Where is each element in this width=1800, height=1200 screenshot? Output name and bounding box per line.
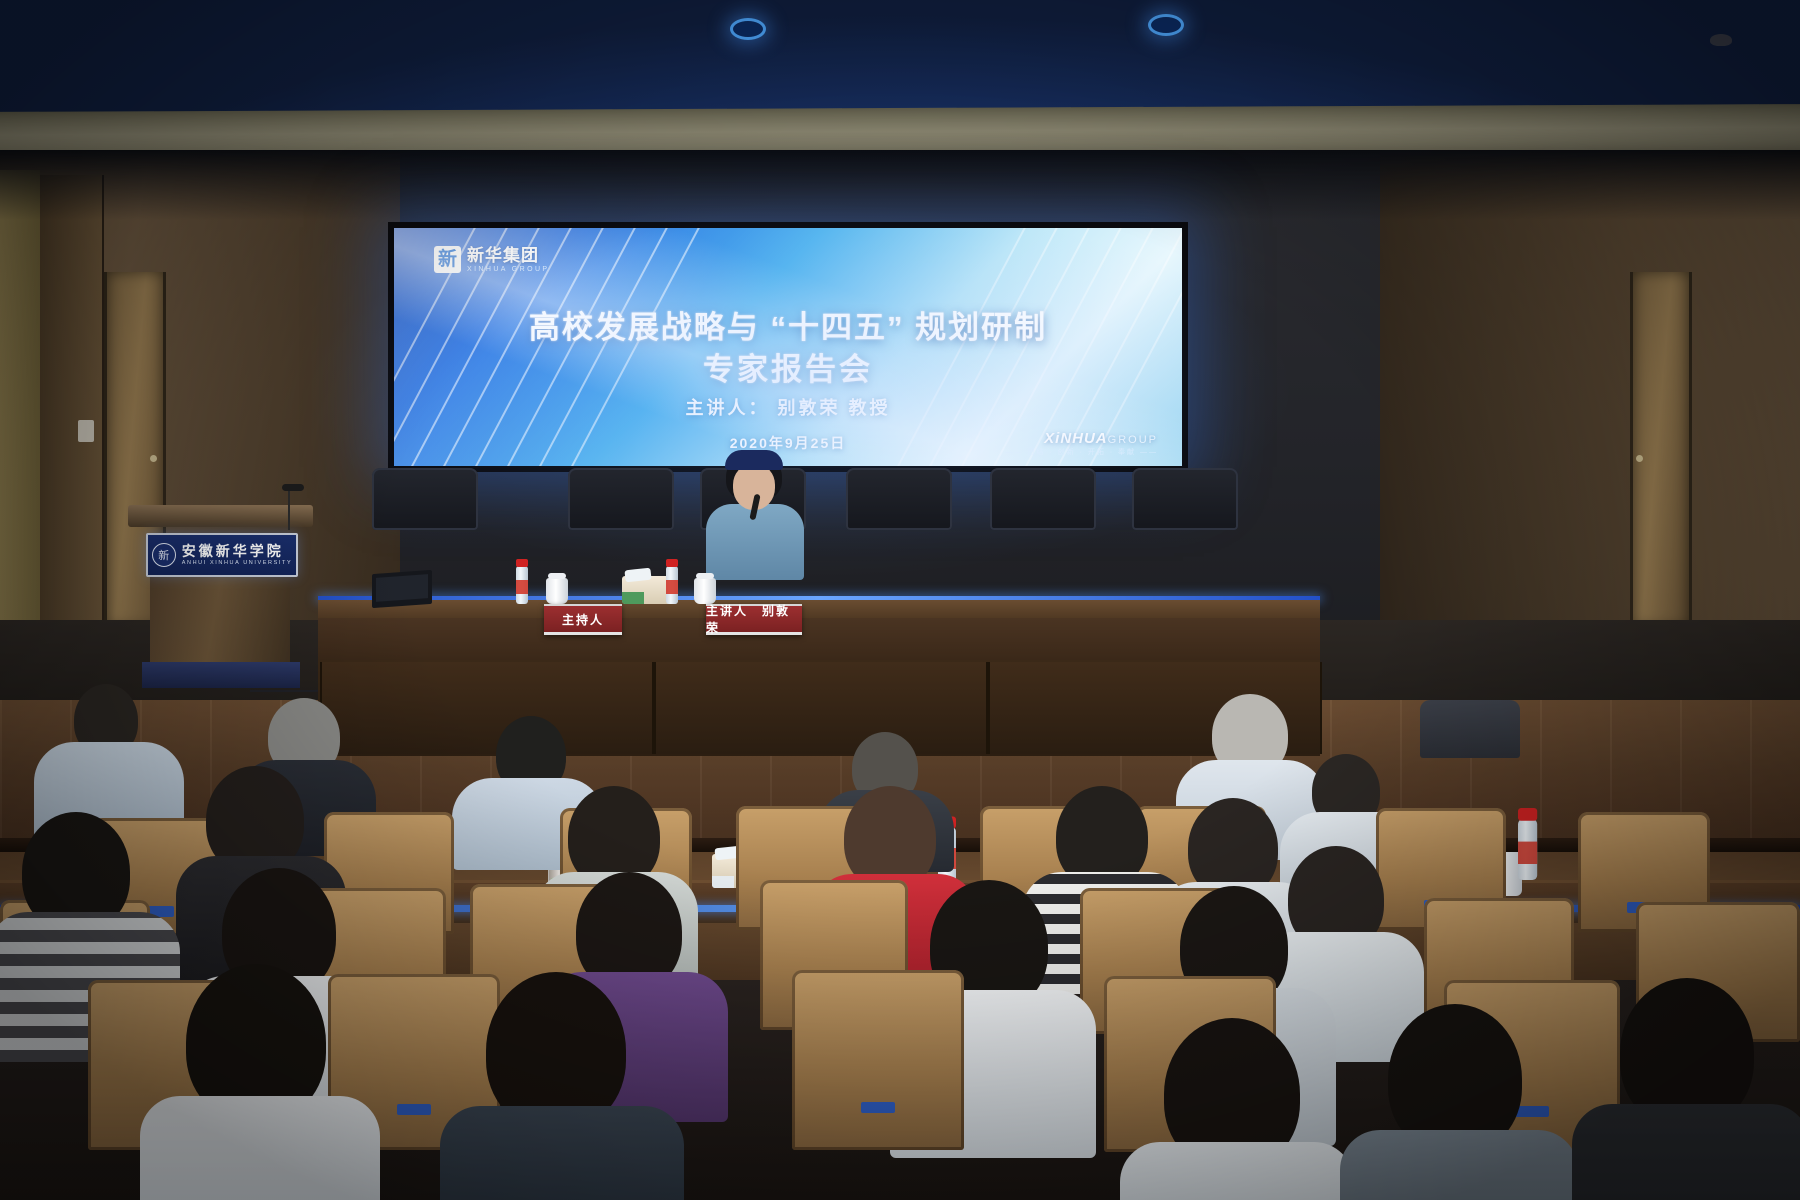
slide-light-sheen [394, 228, 835, 466]
head-table-chair[interactable] [1132, 468, 1238, 530]
slide-footer-brand-main: XiNHUA [1044, 430, 1108, 447]
slide-brand-name-cn: 新华集团 [467, 247, 549, 264]
slide-brand-text: 新华集团 XINHUA GROUP [467, 247, 549, 273]
head-table-chair[interactable] [568, 468, 674, 530]
slide-diagonal-lines-left [394, 228, 1182, 466]
speaker-cabinet [1420, 700, 1520, 758]
head-table-panel [654, 662, 988, 754]
water-bottle [666, 566, 678, 604]
xinhua-logo-icon: 新 [434, 246, 461, 273]
ceiling-ring-light [730, 18, 766, 40]
nameplate-moderator: 主持人 [544, 604, 622, 635]
slide-footer-tagline: —— 团结 · 创新 · 开拓 · 奉献 —— [1005, 449, 1158, 456]
left-wall-panel [40, 175, 104, 675]
slide-footer-brand-sub: GROUP [1108, 434, 1158, 446]
university-seal-icon: 新 [152, 543, 176, 567]
audience-torso [440, 1106, 684, 1200]
podium-university-sign: 新 安徽新华学院 ANHUI XINHUA UNIVERSITY [146, 533, 298, 577]
door-knob[interactable] [1636, 455, 1643, 462]
door-right[interactable] [1630, 272, 1692, 627]
nameplate-text: 主持人 [562, 611, 604, 628]
audience-torso [140, 1096, 380, 1200]
slide-title-line2: 专家报告会 [394, 344, 1182, 389]
door-knob[interactable] [150, 455, 157, 462]
audience-torso [1120, 1142, 1354, 1200]
nameplate-speaker: 主讲人 别敦荣 [706, 604, 802, 635]
podium-microphone-stand [288, 490, 290, 530]
nameplate-text: 主讲人 别敦荣 [706, 602, 802, 636]
podium-microphone-icon [282, 484, 304, 491]
led-screen: 新 新华集团 XINHUA GROUP 高校发展战略与 “十四五” 规划研制 专… [388, 222, 1188, 472]
slide-speaker-line: 主讲人： 别敦荣 教授 [394, 394, 1182, 420]
head-table-chair[interactable] [846, 468, 952, 530]
university-name-cn: 安徽新华学院 [182, 544, 292, 558]
head-table-chair[interactable] [372, 468, 478, 530]
slide-footer: XiNHUAGROUP —— 团结 · 创新 · 开拓 · 奉献 —— [1005, 431, 1158, 456]
speaker-cap [725, 450, 783, 470]
water-bottle [1518, 819, 1537, 880]
slide-title-line1: 高校发展战略与 “十四五” 规划研制 [394, 302, 1182, 347]
chair-number-tag [397, 1104, 431, 1115]
chair-number-tag [861, 1102, 895, 1113]
ceiling-speaker [1710, 34, 1732, 46]
head-table-panel [320, 662, 654, 754]
slide-date-line: 2020年9月25日 [394, 433, 1182, 453]
conference-hall-photo: 新 新华集团 XINHUA GROUP 高校发展战略与 “十四五” 规划研制 专… [0, 0, 1800, 1200]
podium-top [128, 505, 313, 527]
university-sign-text: 安徽新华学院 ANHUI XINHUA UNIVERSITY [182, 544, 292, 567]
slide-footer-brand: XiNHUAGROUP [1005, 431, 1158, 446]
tea-mug [546, 578, 568, 604]
audience-torso [1572, 1104, 1800, 1200]
chair-number-tag [1515, 1106, 1549, 1117]
wall-top-shadow [0, 150, 1800, 220]
wall-switch[interactable] [78, 420, 94, 442]
water-bottle [516, 566, 528, 604]
presentation-slide: 新 新华集团 XINHUA GROUP 高校发展战略与 “十四五” 规划研制 专… [394, 228, 1182, 466]
slide-brand-logo: 新 新华集团 XINHUA GROUP [434, 246, 549, 273]
speaker-person [700, 452, 810, 602]
audience-torso [1340, 1130, 1578, 1200]
slide-brand-name-en: XINHUA GROUP [467, 266, 549, 273]
laptop[interactable] [372, 570, 432, 608]
ceiling-ring-light [1148, 14, 1184, 36]
slide-diagonal-lines-right [394, 228, 1182, 466]
head-table-chair[interactable] [990, 468, 1096, 530]
left-wall-panel [0, 170, 40, 690]
university-name-en: ANHUI XINHUA UNIVERSITY [182, 561, 292, 567]
tea-mug [694, 578, 716, 604]
audience-chair[interactable] [792, 970, 964, 1150]
